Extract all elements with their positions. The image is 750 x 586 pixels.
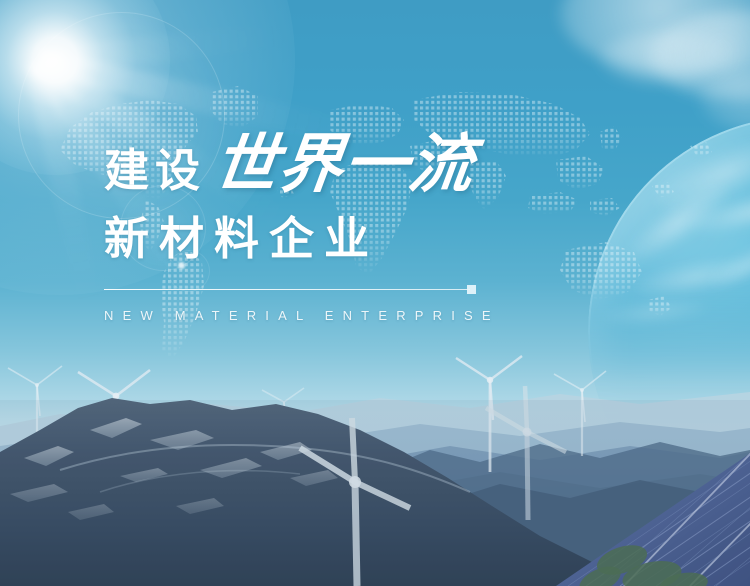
headline-line-1: 建设 世界一流 <box>104 132 524 204</box>
divider-line <box>104 289 470 290</box>
hero-banner: 建设 世界一流 新材料企业 NEW MATERIAL ENTERPRISE <box>0 0 750 586</box>
headline-emphasis: 世界一流 <box>210 132 478 196</box>
subtitle: NEW MATERIAL ENTERPRISE <box>104 308 524 323</box>
hero-text-block: 建设 世界一流 新材料企业 NEW MATERIAL ENTERPRISE <box>104 132 524 323</box>
divider-accent-square <box>467 285 476 294</box>
headline-divider <box>104 285 476 294</box>
headline-lead: 建设 <box>104 148 206 193</box>
headline-line-2: 新材料企业 <box>104 216 524 261</box>
